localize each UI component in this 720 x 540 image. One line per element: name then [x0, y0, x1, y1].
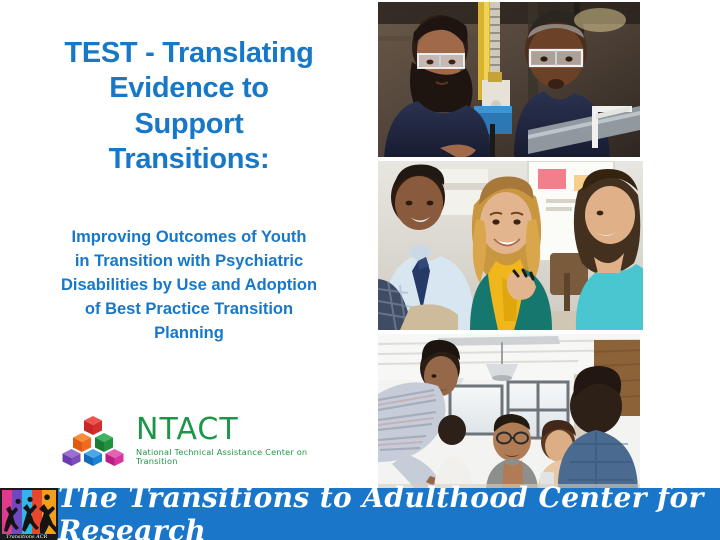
title-line: Support	[24, 107, 354, 142]
cube-pyramid-icon	[62, 414, 124, 466]
left-text-column: TEST - Translating Evidence to Support T…	[0, 0, 378, 488]
subtitle-line: in Transition with Psychiatric	[28, 250, 350, 274]
ntact-logo: NTACT National Technical Assistance Cent…	[62, 410, 324, 470]
transitions-acr-caption: Transitions ACR	[6, 534, 48, 540]
banner-title: The Transitions to Adulthood Center for …	[58, 488, 720, 540]
photo-welding-students	[378, 2, 640, 157]
ntact-acronym: NTACT	[136, 415, 324, 445]
title-line: TEST - Translating	[24, 36, 354, 71]
slide-title: TEST - Translating Evidence to Support T…	[24, 36, 354, 178]
subtitle-line: of Best Practice Transition	[28, 298, 350, 322]
ntact-full-name: National Technical Assistance Center on …	[136, 448, 324, 464]
presentation-slide: TEST - Translating Evidence to Support T…	[0, 0, 720, 540]
photo-meeting-smiling-young-woman	[378, 161, 643, 330]
subtitle-line: Improving Outcomes of Youth	[28, 226, 350, 250]
photo-office-team-discussion	[378, 334, 640, 492]
subtitle-line: Disabilities by Use and Adoption	[28, 274, 350, 298]
title-line: Evidence to	[24, 71, 354, 106]
transitions-acr-logo: Transitions ACR	[0, 488, 58, 540]
title-line: Transitions:	[24, 142, 354, 177]
bottom-banner: Transitions ACR The Transitions to Adult…	[0, 488, 720, 540]
subtitle-line: Planning	[28, 322, 350, 346]
slide-subtitle: Improving Outcomes of Youth in Transitio…	[28, 226, 350, 346]
ntact-wordmark: NTACT National Technical Assistance Cent…	[136, 415, 324, 464]
